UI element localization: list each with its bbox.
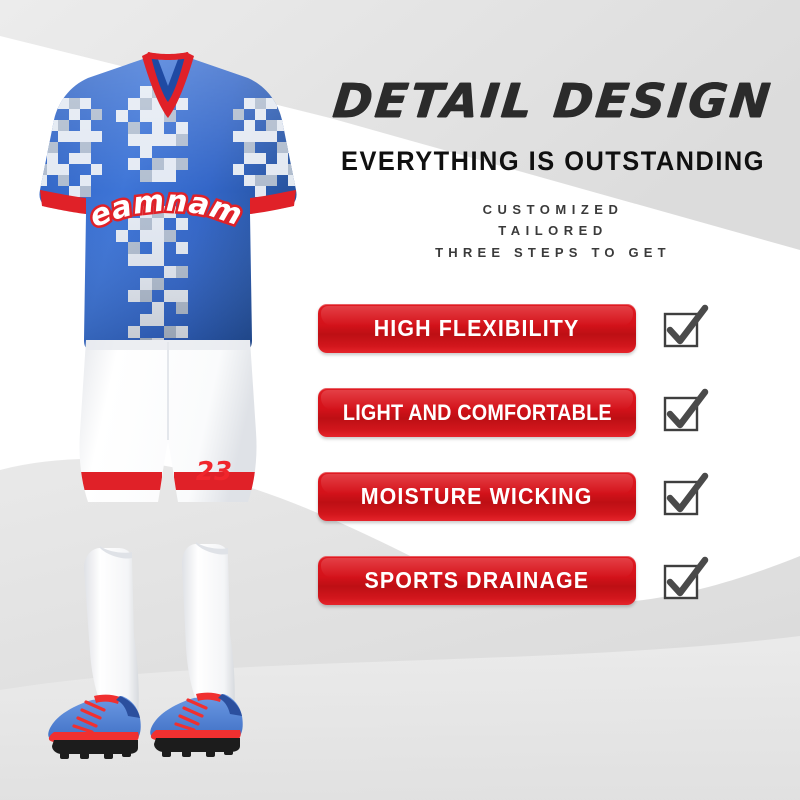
feature-item-high-flexibility[interactable]: HIGH FLEXIBILITY bbox=[318, 304, 788, 353]
socks-and-cleats bbox=[48, 542, 242, 759]
feature-badge[interactable]: HIGH FLEXIBILITY bbox=[318, 304, 636, 353]
feature-badge[interactable]: MOISTURE WICKING bbox=[318, 472, 636, 521]
feature-list: HIGH FLEXIBILITY LIGHT AND COMFORTABLE bbox=[318, 304, 788, 605]
feature-label: HIGH FLEXIBILITY bbox=[374, 315, 580, 342]
feature-label: LIGHT AND COMFORTABLE bbox=[343, 400, 612, 426]
shorts-number: 23 bbox=[196, 457, 232, 487]
cleat-right bbox=[150, 693, 242, 757]
checkbox-checked-icon[interactable] bbox=[661, 474, 707, 520]
tagline-line-3: THREE STEPS TO GET bbox=[318, 242, 788, 263]
feature-label: SPORTS DRAINAGE bbox=[365, 567, 590, 594]
tagline-line-2: TAILORED bbox=[318, 220, 788, 241]
text-panel: DETAIL DESIGN EVERYTHING IS OUTSTANDING … bbox=[318, 56, 788, 676]
feature-item-moisture-wicking[interactable]: MOISTURE WICKING bbox=[318, 472, 788, 521]
uniform-kit-illustration: Teamname 23 bbox=[28, 40, 318, 760]
feature-badge[interactable]: LIGHT AND COMFORTABLE bbox=[318, 388, 636, 437]
page-subtitle: EVERYTHING IS OUTSTANDING bbox=[332, 146, 774, 177]
checkbox-checked-icon[interactable] bbox=[661, 558, 707, 604]
feature-item-sports-drainage[interactable]: SPORTS DRAINAGE bbox=[318, 556, 788, 605]
checkbox-checked-icon[interactable] bbox=[661, 390, 707, 436]
tagline-line-1: CUSTOMIZED bbox=[318, 199, 788, 220]
sock-right bbox=[182, 544, 235, 714]
feature-badge[interactable]: SPORTS DRAINAGE bbox=[318, 556, 636, 605]
tagline-block: CUSTOMIZED TAILORED THREE STEPS TO GET bbox=[318, 199, 788, 262]
jersey: Teamname bbox=[28, 40, 299, 354]
page-title: DETAIL DESIGN bbox=[316, 78, 791, 125]
shorts-hem bbox=[78, 472, 260, 490]
feature-item-light-and-comfortable[interactable]: LIGHT AND COMFORTABLE bbox=[318, 388, 788, 437]
product-feature-poster: Teamname 23 bbox=[0, 0, 800, 800]
shorts: 23 bbox=[78, 340, 260, 502]
feature-label: MOISTURE WICKING bbox=[361, 483, 593, 510]
sock-left bbox=[84, 548, 139, 716]
checkbox-checked-icon[interactable] bbox=[661, 306, 707, 352]
cleat-left bbox=[48, 695, 140, 759]
